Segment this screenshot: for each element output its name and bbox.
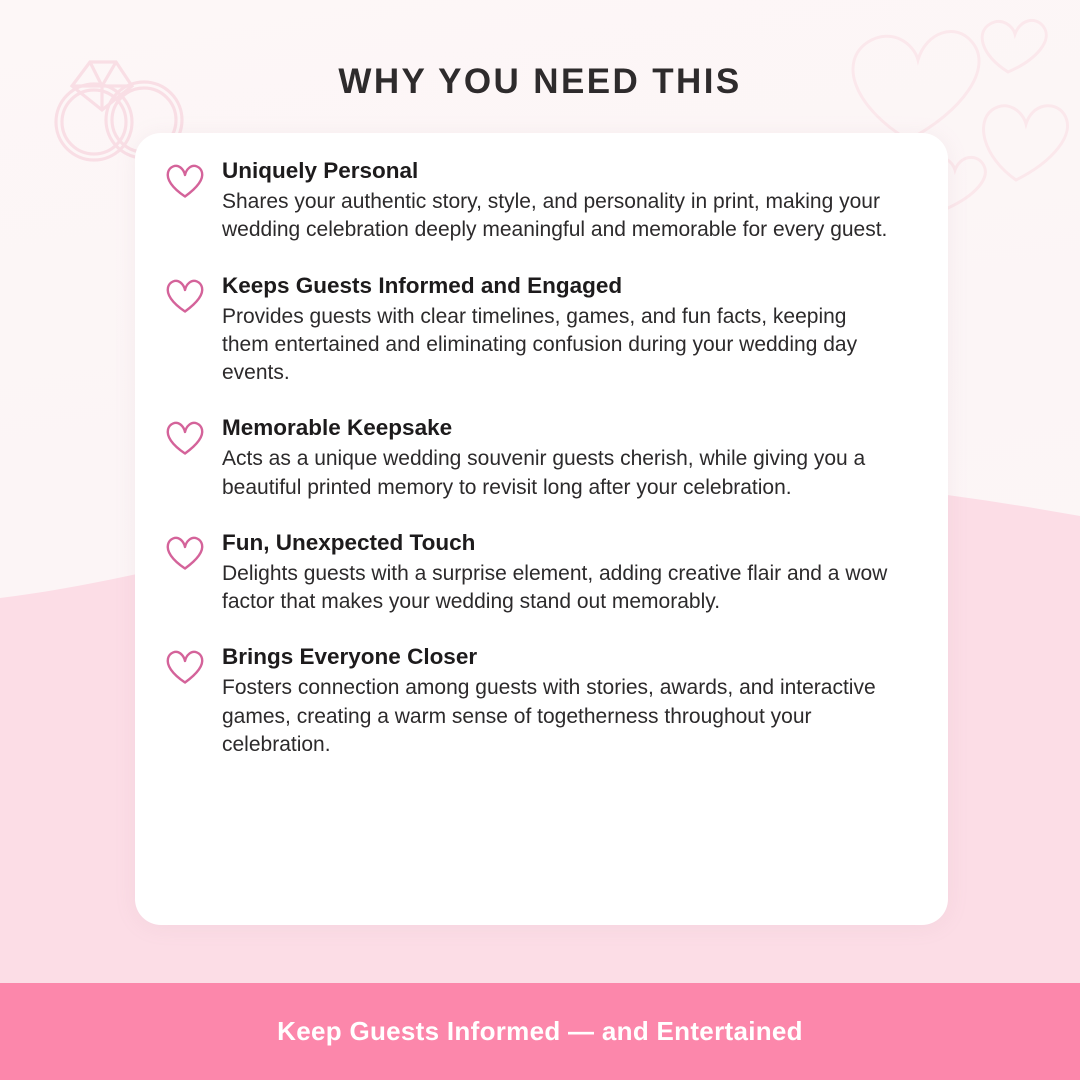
heart-outline-icon <box>164 276 206 314</box>
benefit-description: Fosters connection among guests with sto… <box>222 674 892 758</box>
list-item: Fun, Unexpected Touch Delights guests wi… <box>162 528 924 617</box>
benefits-list: Uniquely Personal Shares your authentic … <box>162 156 924 759</box>
list-item: Uniquely Personal Shares your authentic … <box>162 156 924 245</box>
heart-outline-icon <box>164 418 206 456</box>
heart-outline-icon <box>164 161 206 199</box>
benefit-title: Uniquely Personal <box>222 156 924 185</box>
page-title: WHY YOU NEED THIS <box>0 62 1080 102</box>
benefit-description: Shares your authentic story, style, and … <box>222 188 892 244</box>
poster-canvas: WHY YOU NEED THIS Uniquely Personal Shar… <box>0 0 1080 1080</box>
benefit-title: Memorable Keepsake <box>222 413 924 442</box>
benefit-description: Delights guests with a surprise element,… <box>222 560 892 616</box>
benefit-description: Acts as a unique wedding souvenir guests… <box>222 445 892 501</box>
benefit-title: Fun, Unexpected Touch <box>222 528 924 557</box>
heart-outline-icon <box>164 533 206 571</box>
footer-banner-text: Keep Guests Informed — and Entertained <box>277 1016 803 1047</box>
list-item: Keeps Guests Informed and Engaged Provid… <box>162 271 924 388</box>
benefits-card: Uniquely Personal Shares your authentic … <box>135 133 948 925</box>
heart-outline-icon <box>164 647 206 685</box>
list-item: Memorable Keepsake Acts as a unique wedd… <box>162 413 924 502</box>
benefit-description: Provides guests with clear timelines, ga… <box>222 303 892 387</box>
benefit-title: Brings Everyone Closer <box>222 642 924 671</box>
benefit-title: Keeps Guests Informed and Engaged <box>222 271 924 300</box>
footer-banner: Keep Guests Informed — and Entertained <box>0 983 1080 1080</box>
list-item: Brings Everyone Closer Fosters connectio… <box>162 642 924 759</box>
